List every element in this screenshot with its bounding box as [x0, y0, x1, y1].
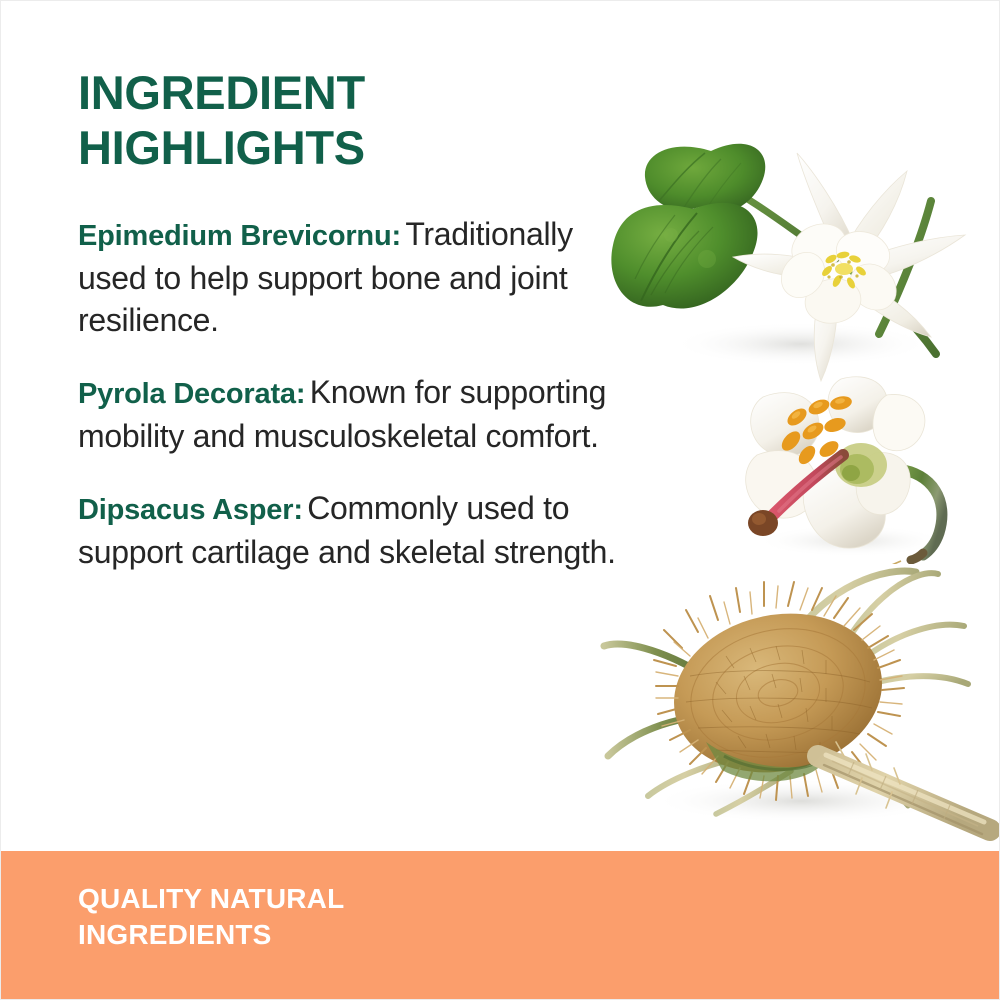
text-column: INGREDIENT HIGHLIGHTS Epimedium Brevicor… [78, 65, 623, 573]
ingredient-name: Pyrola Decorata: [78, 378, 305, 410]
epimedium-flower-photo [601, 129, 1000, 394]
ingredient-name: Dipsacus Asper: [78, 494, 303, 526]
ingredient-item-dipsacus: Dipsacus Asper: Commonly used to support… [78, 487, 623, 573]
ingredient-item-epimedium: Epimedium Brevicornu: Traditionally used… [78, 213, 623, 341]
plant-image-column [591, 1, 1000, 856]
pyrola-flower-photo [701, 369, 1000, 564]
ingredient-item-pyrola: Pyrola Decorata: Known for supporting mo… [78, 371, 623, 457]
ingredient-highlights-card: INGREDIENT HIGHLIGHTS Epimedium Brevicor… [0, 0, 1000, 1000]
ingredient-name: Epimedium Brevicornu: [78, 220, 401, 252]
page-title: INGREDIENT HIGHLIGHTS [78, 65, 623, 175]
quality-banner: QUALITY NATURAL INGREDIENTS [1, 851, 999, 999]
quality-banner-text: QUALITY NATURAL INGREDIENTS [78, 881, 344, 953]
dipsacus-teasel-photo [586, 556, 1000, 846]
